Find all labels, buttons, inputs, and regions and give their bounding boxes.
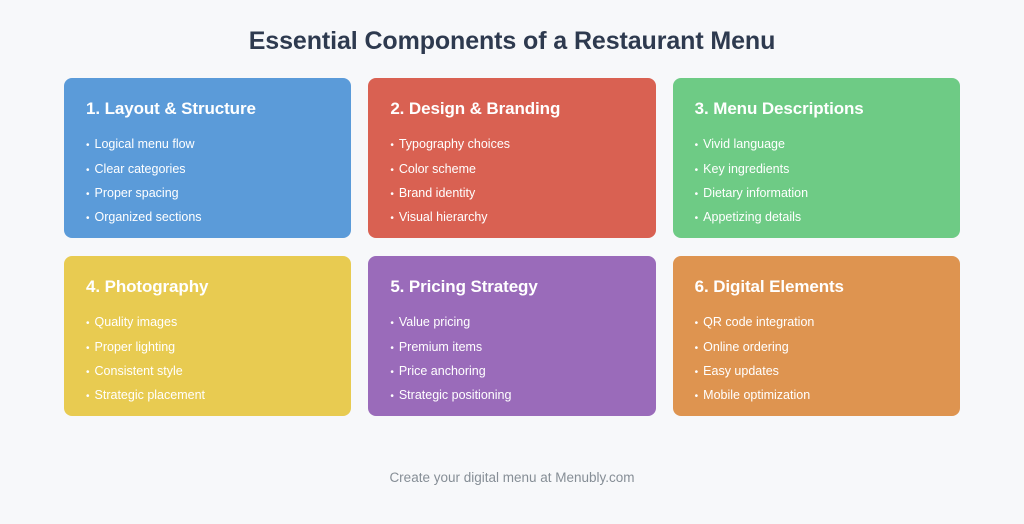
card-grid: 1. Layout & Structure•Logical menu flow•… <box>64 78 960 416</box>
bullet-icon: • <box>390 135 394 157</box>
list-item-label: Easy updates <box>703 360 779 382</box>
card-list: •Vivid language•Key ingredients•Dietary … <box>695 133 938 230</box>
list-item: •Premium items <box>390 336 633 360</box>
card-title: 6. Digital Elements <box>695 277 938 297</box>
infographic-root: Essential Components of a Restaurant Men… <box>0 0 1024 524</box>
list-item: •Strategic positioning <box>390 384 633 408</box>
footer-note: Create your digital menu at Menubly.com <box>0 470 1024 485</box>
list-item: •Proper lighting <box>86 336 329 360</box>
card-4[interactable]: 4. Photography•Quality images•Proper lig… <box>64 256 351 416</box>
list-item: •Easy updates <box>695 360 938 384</box>
card-list: •Typography choices•Color scheme•Brand i… <box>390 133 633 230</box>
bullet-icon: • <box>86 313 90 335</box>
list-item-label: Consistent style <box>95 360 183 382</box>
list-item: •Organized sections <box>86 206 329 230</box>
bullet-icon: • <box>390 208 394 230</box>
card-1[interactable]: 1. Layout & Structure•Logical menu flow•… <box>64 78 351 238</box>
list-item: •Proper spacing <box>86 182 329 206</box>
list-item: •Logical menu flow <box>86 133 329 157</box>
list-item-label: Value pricing <box>399 311 470 333</box>
list-item: •Appetizing details <box>695 206 938 230</box>
list-item: •QR code integration <box>695 311 938 335</box>
list-item-label: Color scheme <box>399 158 476 180</box>
bullet-icon: • <box>390 313 394 335</box>
card-title: 1. Layout & Structure <box>86 99 329 119</box>
card-5[interactable]: 5. Pricing Strategy•Value pricing•Premiu… <box>368 256 655 416</box>
list-item: •Consistent style <box>86 360 329 384</box>
list-item-label: Strategic placement <box>95 384 205 406</box>
list-item-label: Dietary information <box>703 182 808 204</box>
list-item: •Value pricing <box>390 311 633 335</box>
list-item: •Typography choices <box>390 133 633 157</box>
list-item-label: Mobile optimization <box>703 384 810 406</box>
list-item: •Mobile optimization <box>695 384 938 408</box>
list-item-label: Online ordering <box>703 336 788 358</box>
list-item: •Dietary information <box>695 182 938 206</box>
card-list: •QR code integration•Online ordering•Eas… <box>695 311 938 408</box>
bullet-icon: • <box>390 160 394 182</box>
list-item-label: Premium items <box>399 336 482 358</box>
page-title: Essential Components of a Restaurant Men… <box>249 26 776 56</box>
bullet-icon: • <box>86 338 90 360</box>
list-item: •Online ordering <box>695 336 938 360</box>
list-item-label: Clear categories <box>95 158 186 180</box>
bullet-icon: • <box>695 362 699 384</box>
list-item: •Color scheme <box>390 158 633 182</box>
list-item: •Visual hierarchy <box>390 206 633 230</box>
card-3[interactable]: 3. Menu Descriptions•Vivid language•Key … <box>673 78 960 238</box>
list-item-label: Key ingredients <box>703 158 789 180</box>
card-title: 3. Menu Descriptions <box>695 99 938 119</box>
list-item-label: Proper lighting <box>95 336 176 358</box>
bullet-icon: • <box>390 338 394 360</box>
list-item-label: Appetizing details <box>703 206 801 228</box>
card-title: 4. Photography <box>86 277 329 297</box>
bullet-icon: • <box>86 386 90 408</box>
card-list: •Quality images•Proper lighting•Consiste… <box>86 311 329 408</box>
bullet-icon: • <box>695 184 699 206</box>
card-2[interactable]: 2. Design & Branding•Typography choices•… <box>368 78 655 238</box>
bullet-icon: • <box>695 208 699 230</box>
list-item: •Quality images <box>86 311 329 335</box>
bullet-icon: • <box>86 184 90 206</box>
bullet-icon: • <box>86 362 90 384</box>
bullet-icon: • <box>390 362 394 384</box>
list-item-label: Strategic positioning <box>399 384 512 406</box>
list-item-label: Brand identity <box>399 182 475 204</box>
bullet-icon: • <box>695 160 699 182</box>
bullet-icon: • <box>86 135 90 157</box>
list-item-label: Quality images <box>95 311 178 333</box>
bullet-icon: • <box>86 160 90 182</box>
list-item: •Brand identity <box>390 182 633 206</box>
bullet-icon: • <box>695 338 699 360</box>
list-item: •Key ingredients <box>695 158 938 182</box>
bullet-icon: • <box>390 184 394 206</box>
card-list: •Logical menu flow•Clear categories•Prop… <box>86 133 329 230</box>
list-item-label: Vivid language <box>703 133 785 155</box>
card-list: •Value pricing•Premium items•Price ancho… <box>390 311 633 408</box>
bullet-icon: • <box>695 313 699 335</box>
list-item-label: Visual hierarchy <box>399 206 488 228</box>
list-item: •Price anchoring <box>390 360 633 384</box>
list-item: •Strategic placement <box>86 384 329 408</box>
card-title: 5. Pricing Strategy <box>390 277 633 297</box>
list-item-label: Price anchoring <box>399 360 486 382</box>
bullet-icon: • <box>390 386 394 408</box>
list-item-label: Organized sections <box>95 206 202 228</box>
list-item-label: Logical menu flow <box>95 133 195 155</box>
list-item: •Clear categories <box>86 158 329 182</box>
bullet-icon: • <box>695 386 699 408</box>
list-item: •Vivid language <box>695 133 938 157</box>
card-6[interactable]: 6. Digital Elements•QR code integration•… <box>673 256 960 416</box>
list-item-label: Typography choices <box>399 133 510 155</box>
card-title: 2. Design & Branding <box>390 99 633 119</box>
list-item-label: QR code integration <box>703 311 814 333</box>
list-item-label: Proper spacing <box>95 182 179 204</box>
bullet-icon: • <box>86 208 90 230</box>
bullet-icon: • <box>695 135 699 157</box>
